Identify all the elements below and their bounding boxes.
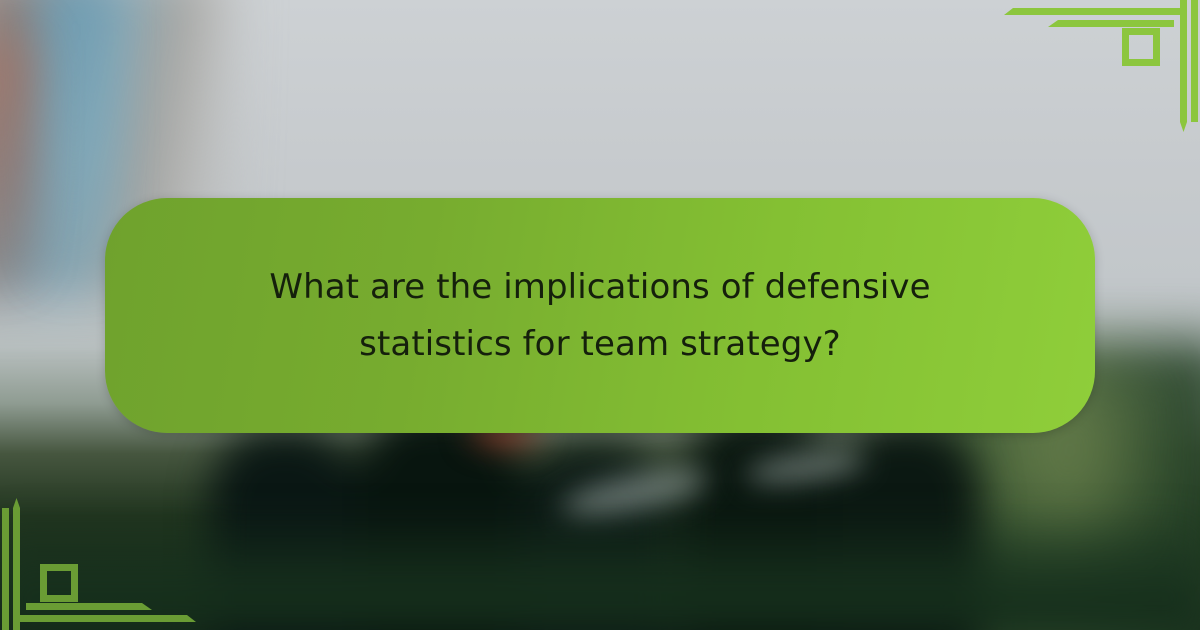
corner-ornament-bottom-left	[0, 490, 210, 630]
ornament-vertical-bar-pointed-icon	[13, 498, 20, 630]
background-building-stripe	[40, 0, 110, 280]
ornament-vertical-bar-plain-icon	[2, 508, 9, 630]
ornament-square-outline-icon	[40, 564, 78, 602]
ornament-horizontal-bar-short-icon	[26, 603, 152, 610]
question-card: What are the implications of defensive s…	[105, 198, 1095, 433]
corner-ornament-top-right	[990, 0, 1200, 140]
ornament-horizontal-bar-short-icon	[1048, 20, 1174, 27]
ornament-horizontal-bar-long-icon	[18, 615, 196, 622]
ornament-vertical-bar-plain-icon	[1191, 0, 1198, 122]
background-building-red-wall	[0, 40, 30, 280]
ornament-horizontal-bar-long-icon	[1004, 8, 1182, 15]
ornament-vertical-bar-pointed-icon	[1180, 0, 1187, 132]
ornament-square-outline-icon	[1122, 28, 1160, 66]
social-card-canvas: What are the implications of defensive s…	[0, 0, 1200, 630]
question-text: What are the implications of defensive s…	[250, 259, 950, 371]
